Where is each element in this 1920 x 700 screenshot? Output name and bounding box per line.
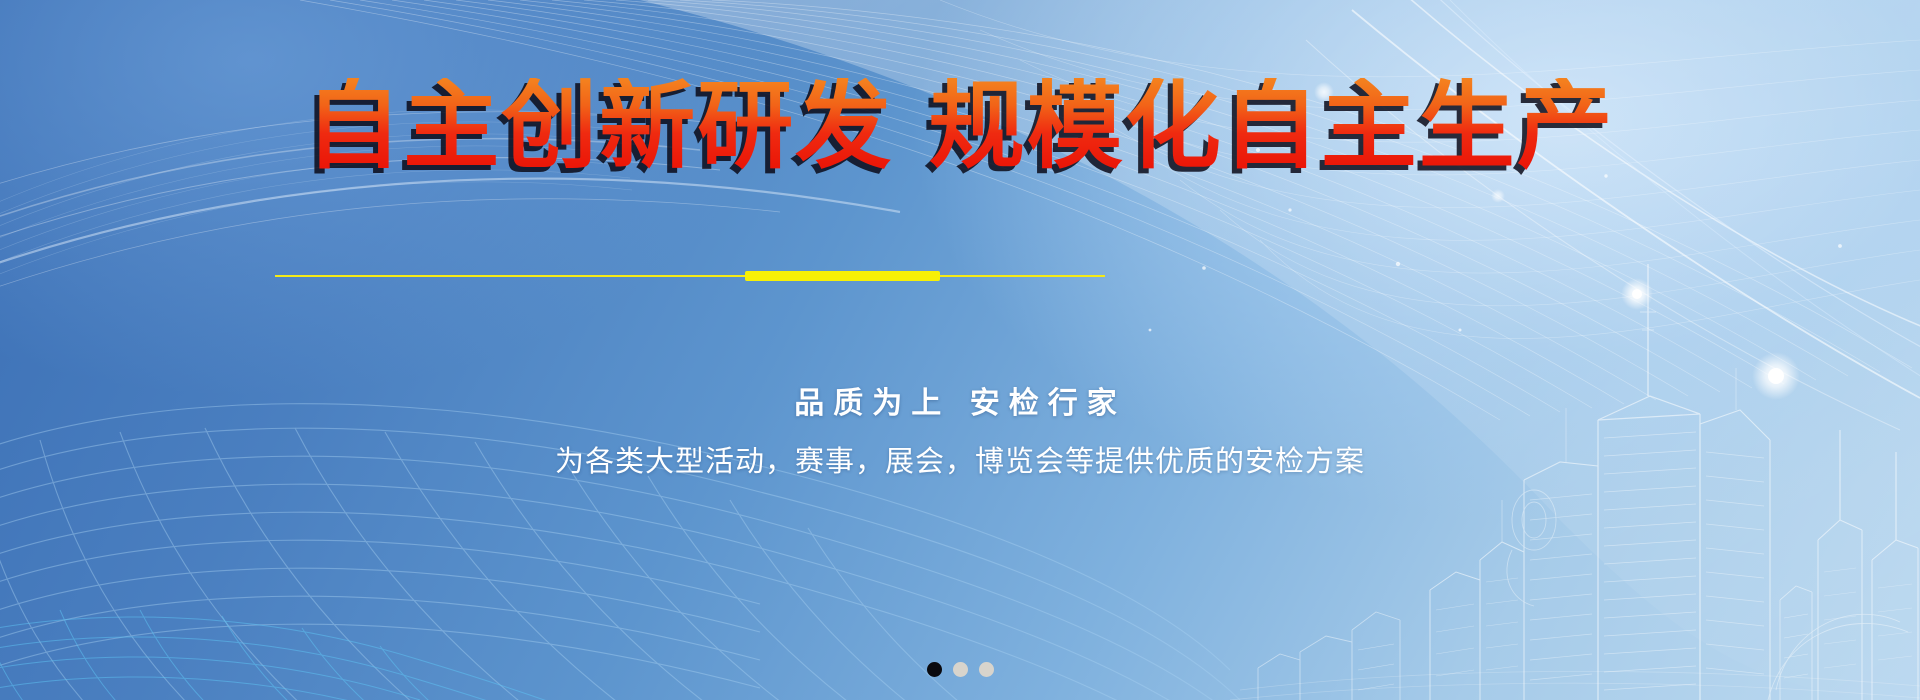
yellow-divider bbox=[275, 270, 1105, 282]
city-skyline-wireframe bbox=[1258, 264, 1918, 700]
curved-grid-mesh-bright bbox=[0, 610, 720, 700]
carousel-dot-1[interactable] bbox=[927, 662, 942, 677]
swoosh-highlight bbox=[0, 179, 900, 276]
filament-fan bbox=[300, 0, 1912, 420]
orbit-light-streaks bbox=[1306, 0, 1920, 430]
carousel-dots bbox=[0, 662, 1920, 677]
divider-thin-line bbox=[275, 275, 1105, 277]
carousel-dot-3[interactable] bbox=[979, 662, 994, 677]
carousel-dot-2[interactable] bbox=[953, 662, 968, 677]
banner-subtitle-main: 品质为上 安检行家 bbox=[0, 378, 1920, 422]
banner-headline: 自主创新研发 规模化自主生产 bbox=[305, 78, 1614, 174]
divider-thick-segment bbox=[745, 271, 940, 281]
hero-banner: 自主创新研发 规模化自主生产 品质为上 安检行家 为各类大型活动，赛事，展会，博… bbox=[0, 0, 1920, 700]
banner-subtitle-description: 为各类大型活动，赛事，展会，博览会等提供优质的安检方案 bbox=[0, 438, 1920, 480]
banner-headline-row: 自主创新研发 规模化自主生产 bbox=[0, 78, 1920, 174]
